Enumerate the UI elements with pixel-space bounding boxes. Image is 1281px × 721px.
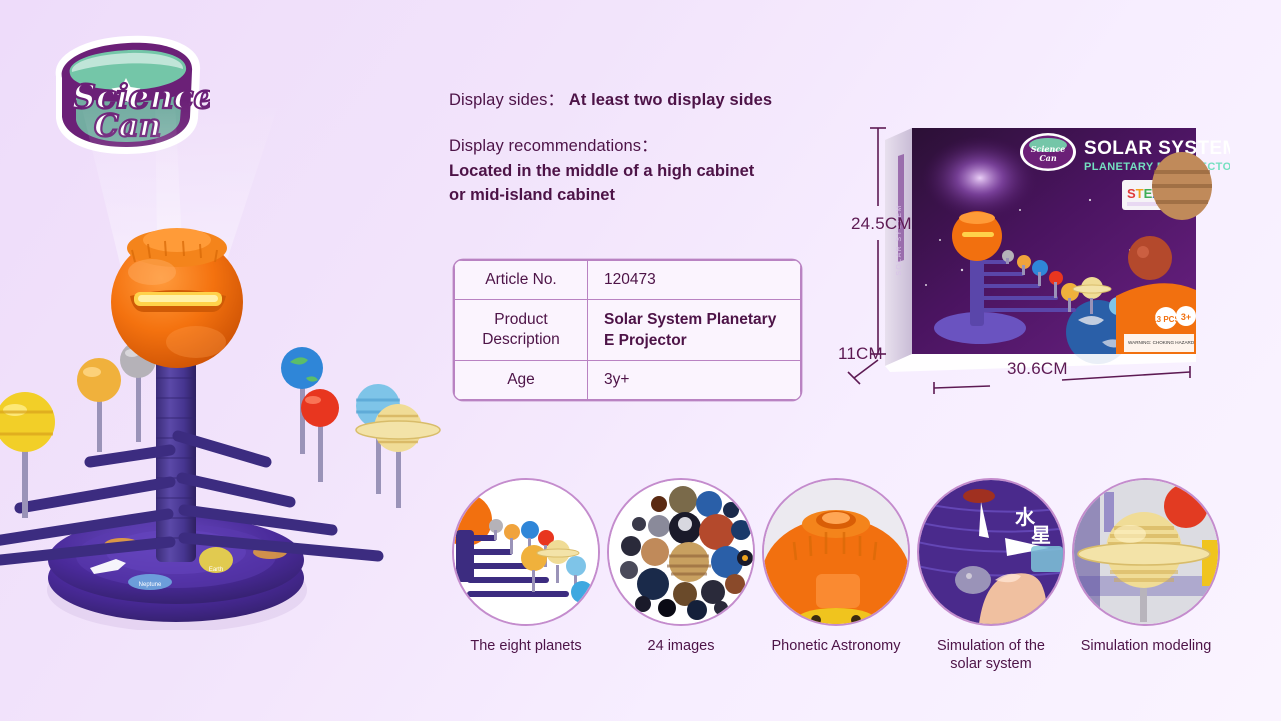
feature-image-simulation-solar-system: 水星	[917, 478, 1065, 626]
feature-image-simulation-modeling	[1072, 478, 1220, 626]
spec-value-product-description: Solar System Planetary E Projector	[588, 300, 801, 361]
spec-key-line2: Description	[482, 331, 560, 348]
feature-image-24-images	[607, 478, 755, 626]
feature-caption-phonetic-astronomy: Phonetic Astronomy	[760, 637, 912, 655]
spec-value-age: 3y+	[588, 361, 801, 400]
warning-text: WARNING: CHOKING HAZARD	[1128, 340, 1195, 345]
svg-text:Can: Can	[1039, 153, 1057, 163]
dimension-height-label: 24.5CM	[851, 214, 912, 234]
sun-projector-dome	[111, 228, 243, 368]
feature-caption-simulation-modeling: Simulation modeling	[1070, 637, 1222, 655]
feature-caption-24-images: 24 images	[605, 637, 757, 655]
display-spec-text: Display sides： At least two display side…	[449, 88, 829, 207]
solar-system-projector-toy: Neptune Earth	[0, 90, 450, 630]
svg-text:Earth: Earth	[209, 567, 223, 573]
feature-simulation-modeling: Simulation modeling	[1070, 478, 1222, 655]
display-recommendations-label: Display recommendations：	[449, 134, 829, 159]
display-sides-line: Display sides： At least two display side…	[449, 88, 829, 113]
spec-value-line1: Solar System Planetary	[604, 311, 776, 328]
feature-image-the-eight-planets	[452, 478, 600, 626]
svg-text:星: 星	[1031, 523, 1051, 547]
table-row: Product Description Solar System Planeta…	[455, 300, 801, 361]
spec-key-product-description: Product Description	[455, 300, 588, 361]
spec-value-line2: E Projector	[604, 332, 687, 349]
product-marketing-page: Science Can	[0, 0, 1281, 721]
svg-text:Neptune: Neptune	[139, 582, 162, 588]
spec-value-article-no: 120473	[588, 261, 801, 300]
dimension-width-label: 30.6CM	[1007, 359, 1068, 379]
table-row: Article No. 120473	[455, 261, 801, 300]
caption-line1: Simulation of the	[937, 638, 1045, 654]
display-sides-value: At least two display sides	[569, 91, 772, 109]
display-recommendations-value-line2: or mid-island cabinet	[449, 183, 829, 207]
feature-caption-simulation-solar-system: Simulation of the solar system	[915, 637, 1067, 673]
display-recommendations-value-line1: Located in the middle of a high cabinet	[449, 159, 829, 183]
age-badge: 3+	[1181, 312, 1191, 322]
spec-key-line1: Product	[494, 311, 547, 328]
box-title: SOLAR SYSTEM	[1084, 138, 1230, 159]
spec-key-age: Age	[455, 361, 588, 400]
feature-caption-the-eight-planets: The eight planets	[450, 637, 602, 655]
feature-image-phonetic-astronomy	[762, 478, 910, 626]
feature-simulation-solar-system: 水星 Simulation of the solar system	[915, 478, 1067, 673]
table-row: Age 3y+	[455, 361, 801, 400]
feature-highlights: The eight planets	[450, 478, 1240, 663]
package-box-with-dimensions: SOLAR SYSTEM Science Can SOLAR SYSTEM PL…	[830, 110, 1230, 400]
feature-the-eight-planets: The eight planets	[450, 478, 602, 655]
feature-24-images: 24 images	[605, 478, 757, 655]
box-logo: Science Can	[1020, 133, 1076, 171]
product-spec-table: Article No. 120473 Product Description S…	[454, 260, 801, 400]
caption-line2: solar system	[950, 656, 1031, 672]
spec-key-article-no: Article No.	[455, 261, 588, 300]
display-sides-label: Display sides：	[449, 91, 564, 109]
dimension-depth-label: 11CM	[838, 344, 883, 364]
box-warning-strip: 13 PCS 3+ WARNING: CHOKING HAZARD	[1116, 283, 1196, 354]
feature-phonetic-astronomy: Phonetic Astronomy	[760, 478, 912, 655]
